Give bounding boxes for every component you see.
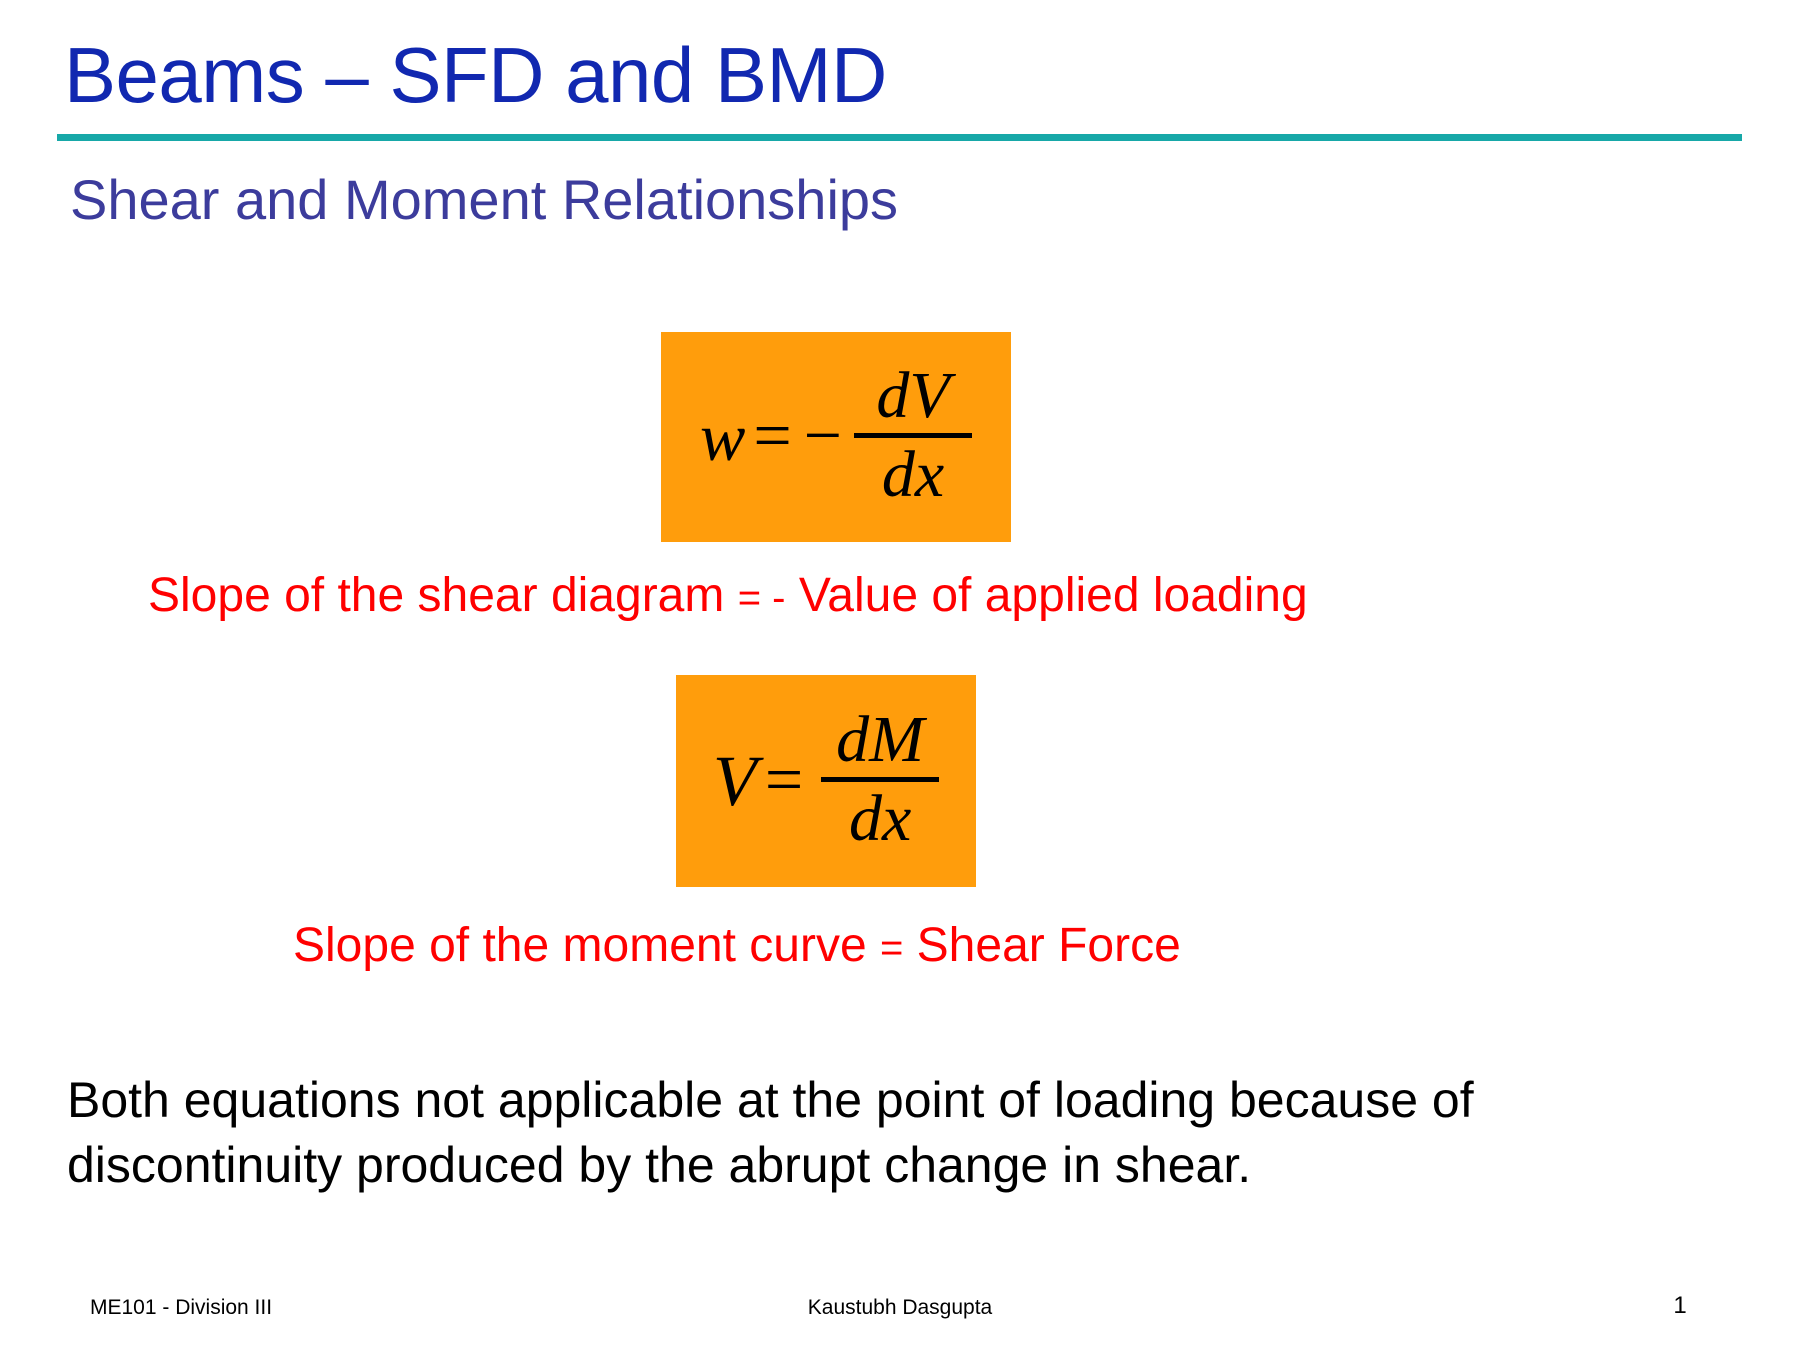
equation-lhs: w: [700, 403, 745, 471]
formula-box-moment-shear-relation: V = dM dx: [676, 675, 976, 887]
formula-box-shear-load-relation: w = − dV dx: [661, 332, 1011, 542]
equals-sign: =: [765, 745, 803, 813]
page-title: Beams – SFD and BMD: [64, 36, 887, 114]
equals-sign: =: [753, 401, 791, 469]
section-subtitle: Shear and Moment Relationships: [70, 172, 898, 228]
fraction: dM dx: [821, 705, 939, 853]
fraction-denominator: dx: [876, 438, 950, 509]
fraction-numerator: dV: [870, 361, 955, 432]
footer-page-number: 1: [1630, 1292, 1730, 1320]
caption-trail-text: Shear Force: [903, 919, 1180, 972]
title-underline-rule: [57, 134, 1742, 141]
equation-moment-shear-relation: V = dM dx: [713, 707, 939, 855]
body-note: Both equations not applicable at the poi…: [67, 1068, 1747, 1198]
caption-lead-text: Slope of the moment curve: [293, 919, 880, 972]
equation-lhs: V: [713, 745, 757, 817]
equation-shear-load-relation: w = − dV dx: [700, 363, 972, 511]
minus-sign: −: [804, 401, 842, 469]
footer-author-label: Kaustubh Dasgupta: [0, 1296, 1800, 1320]
caption-lead-text: Slope of the shear diagram: [148, 569, 738, 622]
caption-trail-text: Value of applied loading: [785, 569, 1307, 622]
caption-operator: =: [880, 926, 903, 970]
caption-operator: = -: [738, 576, 786, 620]
fraction-numerator: dM: [830, 705, 930, 776]
slide: Beams – SFD and BMD Shear and Moment Rel…: [0, 0, 1800, 1350]
caption-shear-slope: Slope of the shear diagram = - Value of …: [148, 572, 1308, 620]
fraction-denominator: dx: [843, 782, 917, 853]
caption-moment-slope: Slope of the moment curve = Shear Force: [293, 922, 1181, 970]
fraction: dV dx: [854, 361, 972, 509]
